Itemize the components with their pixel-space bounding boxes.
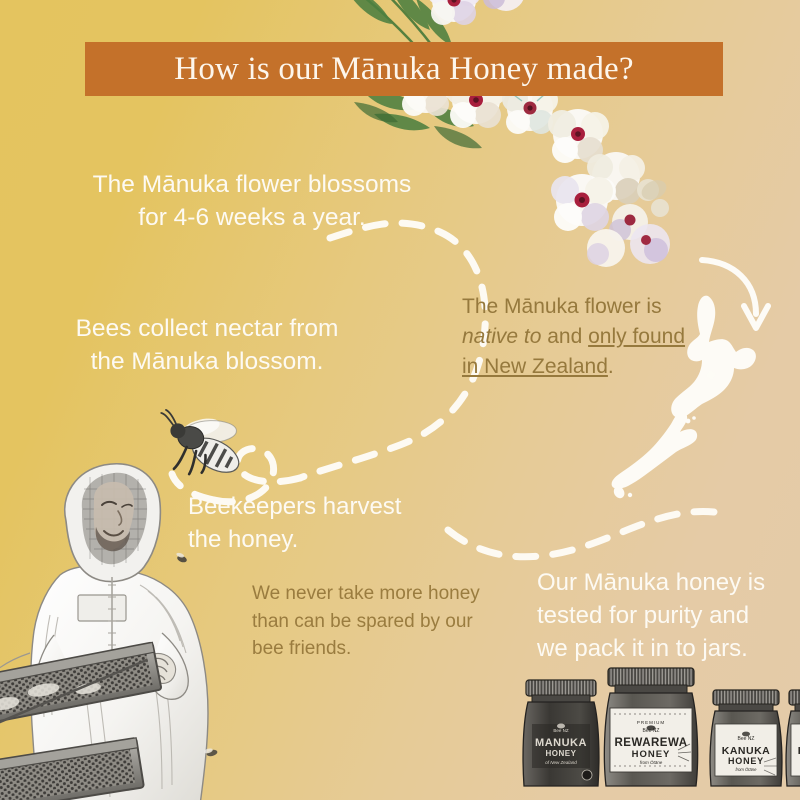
step-spared-text: We never take more honey than can be spa… — [252, 580, 512, 663]
svg-text:Bee NZ: Bee NZ — [643, 728, 660, 734]
svg-text:REWAREWA: REWAREWA — [615, 737, 688, 749]
step-harvest-line1: Beekeepers harvest — [188, 490, 478, 523]
step-spared-line2: than can be spared by our — [252, 608, 512, 636]
step-nectar-line2: the Mānuka blossom. — [22, 345, 392, 378]
step-nectar-text: Bees collect nectar from the Mānuka blos… — [22, 312, 392, 378]
svg-text:from Ōtāne: from Ōtāne — [640, 759, 663, 765]
step-native-line2: native to and only found — [462, 322, 712, 352]
honey-jars-sketch: Bee NZ MANUKA HONEY of New Zealand PREMI… — [512, 660, 800, 800]
honey-bee-sketch — [150, 408, 270, 498]
step-spared-line1: We never take more honey — [252, 580, 512, 608]
step-nectar-line1: Bees collect nectar from — [22, 312, 392, 345]
svg-text:HONEY: HONEY — [546, 749, 577, 758]
title-banner: How is our Mānuka Honey made? — [85, 42, 723, 96]
svg-text:HONEY: HONEY — [728, 756, 764, 766]
step-native-line1: The Mānuka flower is — [462, 292, 712, 322]
native-connector: and — [541, 325, 588, 348]
step-harvest-text: Beekeepers harvest the honey. — [188, 490, 478, 556]
native-to-emphasis: native to — [462, 325, 541, 348]
step-harvest-line2: the honey. — [188, 523, 478, 556]
infographic-poster: Bee NZ MANUKA HONEY of New Zealand PREMI… — [0, 0, 800, 800]
svg-text:HONEY: HONEY — [632, 749, 671, 760]
svg-text:PREMIUM: PREMIUM — [637, 720, 665, 725]
step-jars-line3: we pack it in to jars. — [537, 632, 787, 665]
in-new-zealand-link: in New Zealand — [462, 355, 608, 378]
native-period: . — [608, 355, 614, 378]
step-jars-text: Our Mānuka honey is tested for purity an… — [537, 566, 787, 665]
step-blossom-text: The Mānuka flower blossoms for 4-6 weeks… — [52, 168, 452, 234]
step-jars-line1: Our Mānuka honey is — [537, 566, 787, 599]
step-blossom-line2: for 4-6 weeks a year. — [52, 201, 452, 234]
svg-text:MANUKA: MANUKA — [535, 737, 587, 749]
step-native-line3: in New Zealand. — [462, 352, 712, 382]
svg-text:of New Zealand: of New Zealand — [545, 760, 577, 765]
step-spared-line3: bee friends. — [252, 635, 512, 663]
step-blossom-line1: The Mānuka flower blossoms — [52, 168, 452, 201]
only-found-link: only found — [588, 325, 685, 348]
svg-text:KANUKA: KANUKA — [722, 745, 771, 757]
bee-flight-dashed-path — [0, 0, 800, 800]
svg-text:Bee NZ: Bee NZ — [738, 736, 755, 742]
step-jars-line2: tested for purity and — [537, 599, 787, 632]
svg-text:Bee NZ: Bee NZ — [553, 728, 569, 733]
step-native-text: The Mānuka flower is native to and only … — [462, 292, 712, 381]
page-title: How is our Mānuka Honey made? — [174, 51, 633, 88]
svg-text:from Ōtāne: from Ōtāne — [736, 767, 758, 772]
